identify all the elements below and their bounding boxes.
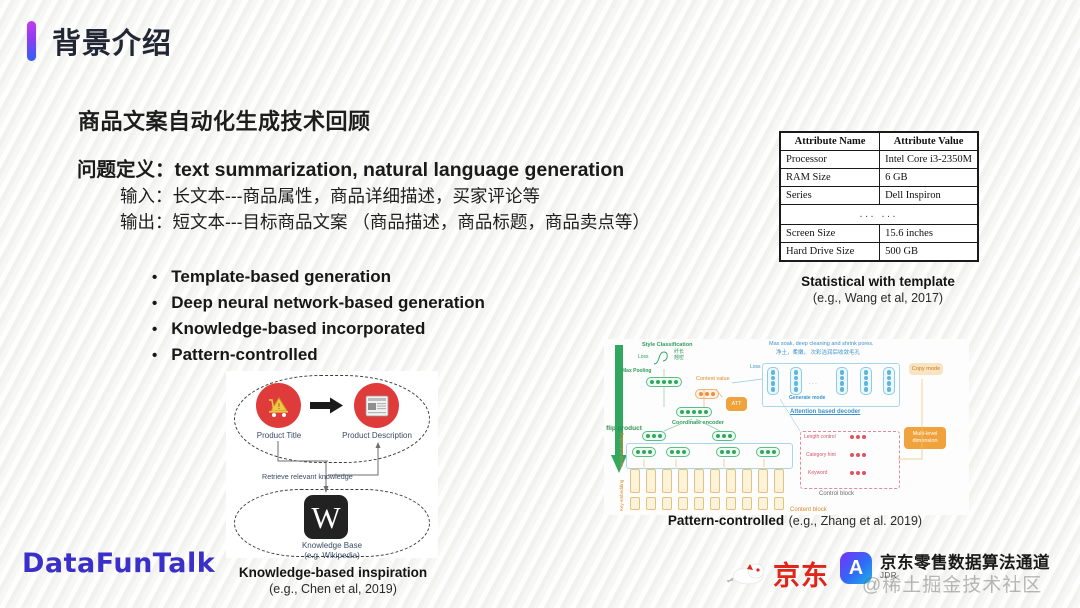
- context-node-row: [695, 389, 719, 399]
- decoder-container: [762, 363, 900, 407]
- table-cell: Processor: [781, 151, 880, 169]
- keyword-label: Keyword: [808, 471, 827, 476]
- key-embed-bar: [694, 497, 704, 510]
- key-embed-bar: [678, 497, 688, 510]
- category-node-row: [847, 451, 869, 459]
- approach-list: • Template-based generation • Deep neura…: [152, 264, 485, 368]
- table-cell: RAM Size: [781, 169, 880, 187]
- keyword-node-row: [847, 469, 869, 477]
- pattern-figure-caption: Pattern-controlled (e.g., Zhang et al. 2…: [640, 513, 950, 529]
- knowledge-base-sub: (e.g. Wikipedia): [248, 551, 416, 561]
- watermark-label: @稀土掘金技术社区: [862, 570, 1042, 597]
- key-embed-bar: [774, 497, 784, 510]
- page-title: 背景介绍: [27, 20, 172, 62]
- word-embed-bar: [646, 469, 656, 493]
- key-embed-bar: [742, 497, 752, 510]
- attribute-table: Attribute Name Attribute Value Processor…: [779, 131, 979, 262]
- table-row: Series Dell Inspiron: [781, 187, 978, 205]
- jd-label: 京东: [773, 554, 829, 593]
- word-embedding-label: Word embedding: [620, 433, 625, 467]
- decoder-col-2: [790, 367, 802, 395]
- caption-sub: (e.g., Chen et al, 2019): [222, 581, 444, 597]
- encoder-sub-row-1: [642, 431, 666, 441]
- table-row: Hard Drive Size 500 GB: [781, 243, 978, 261]
- svg-text:!: !: [277, 402, 280, 411]
- decoder-col-4: [860, 367, 872, 395]
- decoder-col-3: [836, 367, 848, 395]
- att-badge: ATT: [726, 397, 747, 411]
- copy-mode-badge: Copy mode: [909, 363, 943, 375]
- table-cell: 500 GB: [880, 243, 978, 261]
- generate-mode-label: Generate mode: [789, 396, 825, 401]
- table-cell: Series: [781, 187, 880, 205]
- caption-main: Statistical with template: [760, 274, 996, 290]
- context-value-label: Context value: [696, 377, 730, 383]
- word-embed-bar: [726, 469, 736, 493]
- list-item: • Template-based generation: [152, 264, 485, 290]
- table-row: Processor Intel Core i3-2350M: [781, 151, 978, 169]
- word-embed-bar: [774, 469, 784, 493]
- flip-product-label: flip product: [606, 425, 642, 433]
- key-embed-bar: [726, 497, 736, 510]
- title-accent-bar: [27, 21, 36, 61]
- retrieve-knowledge-label: Retrieve relevant knowledge: [262, 472, 353, 481]
- table-cell: Intel Core i3-2350M: [880, 151, 978, 169]
- key-embed-bar: [646, 497, 656, 510]
- content-node-row-1: [632, 447, 656, 457]
- wikipedia-glyph: W: [311, 502, 340, 533]
- title-label: 背景介绍: [52, 20, 172, 62]
- section-headline: 商品文案自动化生成技术回顾: [78, 104, 371, 136]
- right-arrow-icon: [310, 397, 344, 414]
- list-item: • Pattern-controlled: [152, 342, 485, 368]
- slide-root: 背景介绍 商品文案自动化生成技术回顾 问题定义：text summarizati…: [0, 0, 1080, 608]
- bullet-icon: •: [152, 317, 157, 342]
- caption-main: Pattern-controlled: [668, 513, 784, 528]
- key-embed-bar: [630, 497, 640, 510]
- list-item-label: Knowledge-based incorporated: [171, 316, 425, 341]
- style-tags-label: 纤长翘密: [674, 349, 684, 361]
- table-ellipsis-row: ... ...: [781, 205, 978, 225]
- knowledge-base-main: Knowledge Base: [248, 541, 416, 551]
- word-embed-bar: [662, 469, 672, 493]
- list-item-label: Deep neural network-based generation: [171, 290, 485, 315]
- pattern-controlled-figure: flip product Style Classification Loss 纤…: [604, 339, 969, 515]
- jd-dog-mascot-icon: [726, 560, 766, 588]
- decoder-loss-label: Loss: [750, 365, 761, 370]
- knowledge-connector-lines: [226, 437, 438, 495]
- decoder-title-label: Max soak, deep cleaning and shrink pores…: [769, 342, 874, 348]
- product-title-icon: !: [256, 383, 301, 428]
- decoder-col-5: [883, 367, 895, 395]
- input-line: 输入：长文本---商品属性，商品详细描述，买家评论等: [120, 183, 540, 208]
- bullet-icon: •: [152, 343, 157, 368]
- table-header-cell: Attribute Name: [781, 133, 880, 151]
- key-embed-bar: [710, 497, 720, 510]
- content-node-row-2: [666, 447, 690, 457]
- datafuntalk-logo: DataFunTalk: [22, 548, 215, 579]
- list-item: • Knowledge-based incorporated: [152, 316, 485, 342]
- word-embed-bar: [758, 469, 768, 493]
- caption-main: Knowledge-based inspiration: [222, 565, 444, 581]
- table-header-row: Attribute Name Attribute Value: [781, 133, 978, 151]
- content-node-row-3: [716, 447, 740, 457]
- word-embed-bar: [630, 469, 640, 493]
- table-cell: 6 GB: [880, 169, 978, 187]
- length-node-row: [847, 433, 869, 441]
- table-cell: Dell Inspiron: [880, 187, 978, 205]
- document-icon: [364, 394, 390, 418]
- table-row: RAM Size 6 GB: [781, 169, 978, 187]
- table-caption: Statistical with template (e.g., Wang et…: [760, 274, 996, 306]
- sigmoid-curve-icon: [652, 349, 672, 367]
- shopping-cart-icon: !: [266, 394, 292, 418]
- jd-logo: 京东: [726, 554, 829, 593]
- content-node-row-4: [756, 447, 780, 457]
- maxpool-node-row: [646, 377, 682, 387]
- style-classification-label: Style Classification: [642, 343, 692, 349]
- key-embed-bar: [758, 497, 768, 510]
- problem-definition: 问题定义：text summarization, natural languag…: [77, 153, 624, 182]
- encoder-node-row: [676, 407, 712, 417]
- knowledge-based-figure: ! Product Title Product Description: [226, 371, 438, 558]
- table-cell: Screen Size: [781, 225, 880, 243]
- product-description-icon: [354, 383, 399, 428]
- control-block-label: Control block: [819, 491, 854, 497]
- encoder-sub-row-2: [712, 431, 736, 441]
- decoder-ellipsis: · · ·: [809, 382, 817, 387]
- key-embed-bar: [662, 497, 672, 510]
- word-embed-bar: [694, 469, 704, 493]
- attention-decoder-label: Attention based decoder: [790, 409, 860, 415]
- output-line: 输出：短文本---目标商品文案 （商品描述，商品标题，商品卖点等）: [120, 209, 650, 234]
- coordinate-encoder-label: Coordinate encoder: [672, 421, 724, 427]
- table-row: Screen Size 15.6 inches: [781, 225, 978, 243]
- list-item-label: Template-based generation: [171, 264, 391, 289]
- knowledge-figure-caption: Knowledge-based inspiration (e.g., Chen …: [222, 565, 444, 597]
- category-hint-label: Category hint: [806, 453, 836, 458]
- bullet-icon: •: [152, 291, 157, 316]
- table-header-cell: Attribute Value: [880, 133, 978, 151]
- list-item: • Deep neural network-based generation: [152, 290, 485, 316]
- table-cell: ... ...: [781, 205, 978, 225]
- table-cell: Hard Drive Size: [781, 243, 880, 261]
- decoder-col-1: [767, 367, 779, 395]
- caption-sub: (e.g., Wang et al, 2017): [760, 290, 996, 306]
- wikipedia-icon: W: [304, 495, 348, 539]
- word-embed-bar: [678, 469, 688, 493]
- caption-sub: (e.g., Zhang et al. 2019): [789, 514, 922, 528]
- list-item-label: Pattern-controlled: [171, 342, 317, 367]
- multilevel-dimension-badge: Multi-level dimension: [904, 427, 946, 449]
- word-embed-bar: [742, 469, 752, 493]
- word-embed-bar: [710, 469, 720, 493]
- table-cell: 15.6 inches: [880, 225, 978, 243]
- length-control-label: Length control: [804, 435, 836, 440]
- knowledge-base-label: Knowledge Base (e.g. Wikipedia): [248, 541, 416, 561]
- loss-label: Loss: [638, 355, 649, 360]
- decoder-cn-label: 净土，柔嫩， 次彩洁润后收敛毛孔: [776, 351, 860, 357]
- key-embedding-label: Key embedding: [620, 480, 625, 511]
- bullet-icon: •: [152, 265, 157, 290]
- max-pooling-label: Max Pooling: [622, 369, 651, 374]
